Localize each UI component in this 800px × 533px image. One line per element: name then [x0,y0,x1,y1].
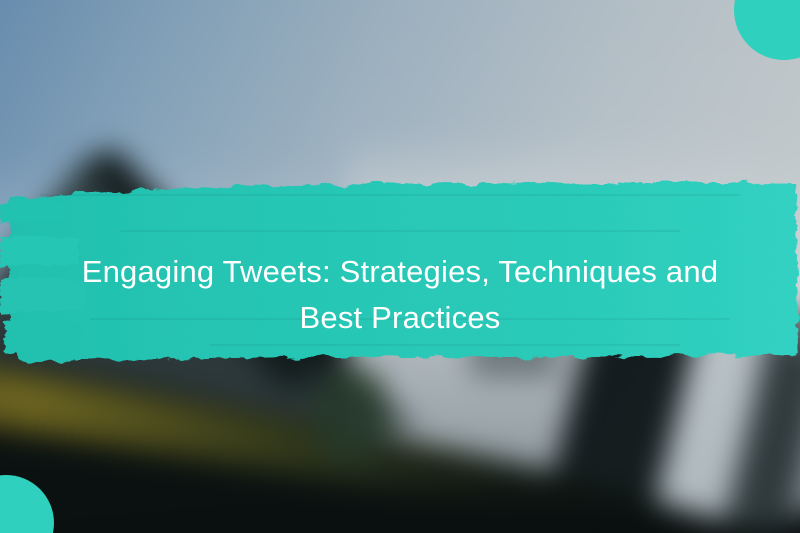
page-title-line-2: Best Practices [80,295,720,341]
page-title: Engaging Tweets: Strategies, Techniques … [0,249,800,341]
blog-header-card: Engaging Tweets: Strategies, Techniques … [0,0,800,533]
page-title-line-1: Engaging Tweets: Strategies, Techniques … [80,249,720,295]
foreground-shrub [312,365,391,463]
